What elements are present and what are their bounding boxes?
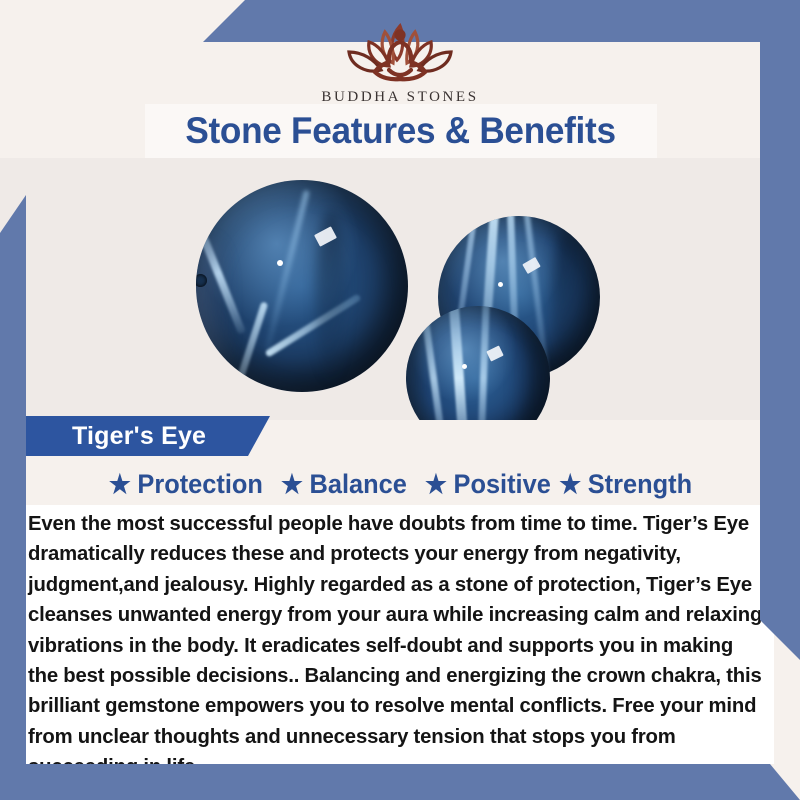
star-icon: ★ bbox=[281, 471, 303, 497]
benefit-label: Balance bbox=[310, 469, 407, 500]
star-icon: ★ bbox=[559, 471, 581, 497]
description-panel: Even the most successful people have dou… bbox=[26, 505, 774, 764]
specular-dot-medium bbox=[498, 282, 503, 287]
benefit-item-balance: ★ Balance bbox=[281, 469, 407, 500]
specular-dot-small bbox=[462, 364, 467, 369]
title-banner: Stone Features & Benefits bbox=[145, 104, 657, 158]
brand-logo[interactable]: BUDDHA STONES bbox=[295, 10, 505, 106]
chatoyancy-bands-small bbox=[406, 306, 550, 420]
stone-name-ribbon: Tiger's Eye bbox=[26, 416, 270, 456]
hero-image-inner bbox=[0, 158, 800, 420]
benefit-label: Positive bbox=[454, 469, 551, 500]
poster-canvas: BUDDHA STONES Stone Features & Benefits … bbox=[0, 0, 800, 800]
hero-gemstone-image bbox=[0, 158, 800, 420]
stone-name-label: Tiger's Eye bbox=[72, 422, 206, 451]
brand-header: BUDDHA STONES bbox=[0, 0, 800, 108]
gemstone-sphere-large bbox=[196, 180, 408, 392]
specular-dot-large bbox=[277, 260, 283, 266]
frame-accent-bottom bbox=[0, 764, 800, 800]
benefits-row: ★ Protection ★ Balance ★ Positive ★ Stre… bbox=[0, 462, 800, 506]
specular-highlight-medium bbox=[522, 257, 540, 274]
page-title: Stone Features & Benefits bbox=[186, 110, 616, 152]
lotus-meditation-icon bbox=[325, 10, 475, 88]
benefit-label: Strength bbox=[588, 469, 692, 500]
star-icon: ★ bbox=[425, 471, 447, 497]
gemstone-sphere-small bbox=[406, 306, 550, 420]
benefit-item-strength: ★ Strength bbox=[559, 469, 692, 500]
specular-highlight-small bbox=[486, 345, 503, 361]
chatoyancy-bands-large bbox=[196, 180, 408, 392]
benefit-item-protection: ★ Protection bbox=[108, 469, 262, 500]
benefit-label: Protection bbox=[137, 469, 263, 500]
benefit-item-positive: ★ Positive bbox=[425, 469, 551, 500]
description-text: Even the most successful people have dou… bbox=[28, 509, 766, 783]
star-icon: ★ bbox=[108, 471, 130, 497]
